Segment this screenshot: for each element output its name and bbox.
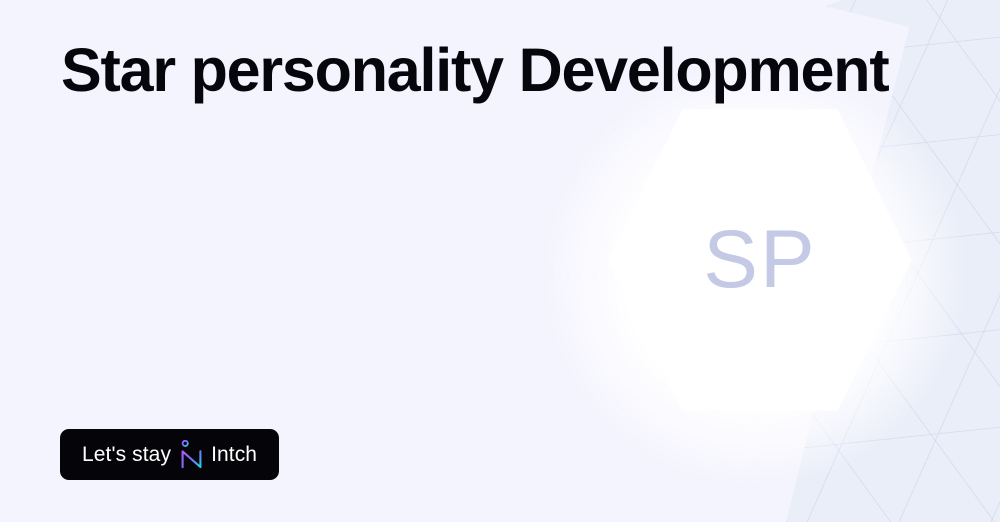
intch-n-logo-icon [180,440,203,469]
page-title: Star personality Development [61,37,961,104]
avatar-initials: SP [703,219,816,301]
badge-prefix-label: Let's stay [82,444,171,465]
lets-stay-intch-button[interactable]: Let's stay Intch [60,429,279,480]
badge-brand-label: Intch [211,444,257,465]
avatar: SP [605,103,915,417]
share-card-canvas: SP Star personality Development Let's st… [0,0,1000,522]
hexagon-avatar-shape: SP [605,103,915,417]
